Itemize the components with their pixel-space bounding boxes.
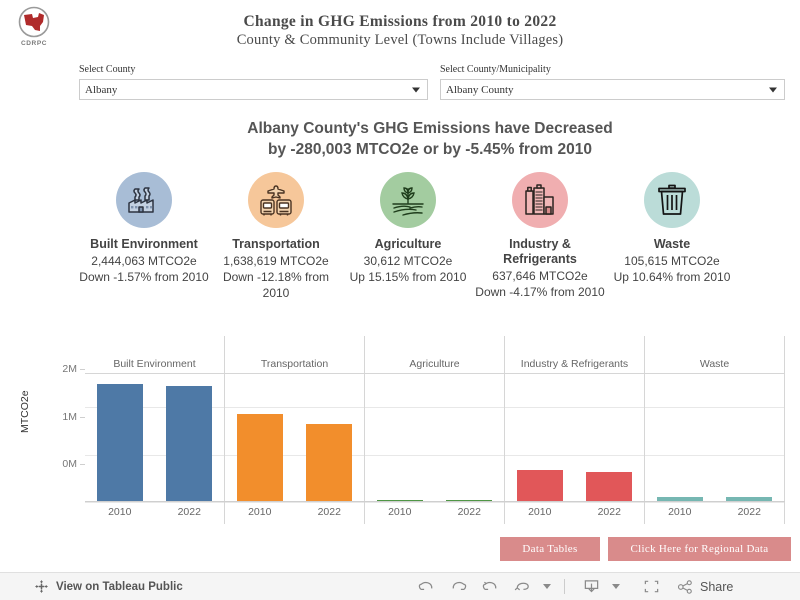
kpi-value: 637,646 MTCO2e (492, 268, 587, 284)
kpi-card-transportation[interactable]: Transportation1,638,619 MTCO2eDown -12.1… (210, 172, 342, 301)
data-tables-button[interactable]: Data Tables (500, 537, 600, 561)
title-line-1: Change in GHG Emissions from 2010 to 202… (120, 12, 680, 31)
kpi-card-agriculture[interactable]: Agriculture30,612 MTCO2eUp 15.15% from 2… (342, 172, 474, 301)
toolbar-controls: Share (410, 574, 733, 600)
panel-header: Industry & Refrigerants (504, 336, 644, 373)
refresh-dropdown-button[interactable] (538, 574, 554, 600)
x-axis-label: 2022 (306, 506, 352, 518)
bar-panel (644, 374, 785, 502)
factory-icon (116, 172, 172, 228)
waste-icon (644, 172, 700, 228)
bar-panel (504, 374, 644, 502)
download-icon (582, 578, 601, 595)
bar[interactable] (586, 472, 632, 502)
kpi-value: 2,444,063 MTCO2e (91, 253, 196, 269)
tableau-toolbar: View on Tableau Public (0, 572, 800, 600)
regional-data-button[interactable]: Click Here for Regional Data (608, 537, 791, 561)
tableau-logo-icon (34, 579, 49, 594)
x-axis-label: 2010 (97, 506, 143, 518)
panel-header: Waste (644, 336, 785, 373)
kpi-card-industry-refrigerants[interactable]: Industry & Refrigerants637,646 MTCO2eDow… (474, 172, 606, 301)
kpi-name: Built Environment (90, 237, 198, 252)
bar[interactable] (517, 470, 563, 502)
chevron-down-icon (412, 87, 420, 92)
transportation-icon (248, 172, 304, 228)
x-axis-label: 2022 (446, 506, 492, 518)
county-filter-select[interactable]: Albany (79, 79, 428, 100)
panel-header-row: Built EnvironmentTransportationAgricultu… (85, 336, 785, 374)
county-filter-label: Select County (79, 64, 428, 76)
municipality-filter: Select County/Municipality Albany County (440, 64, 785, 100)
x-axis-label: 2022 (166, 506, 212, 518)
undo-button[interactable] (410, 574, 442, 600)
county-filter: Select County Albany (79, 64, 428, 100)
cdrpc-logo: CDRPC (10, 6, 58, 52)
redo-button[interactable] (442, 574, 474, 600)
kpi-change: Down -1.57% from 2010 (79, 269, 208, 285)
x-axis-label: 2010 (377, 506, 423, 518)
panel-header: Transportation (224, 336, 364, 373)
y-axis-tick-label: 2M (62, 363, 77, 375)
bar[interactable] (166, 386, 212, 502)
x-axis-panel: 20102022 (224, 502, 364, 524)
headline-line-2: by -280,003 MTCO2e or by -5.45% from 201… (100, 139, 760, 160)
undo-icon (417, 579, 436, 595)
y-axis-tick-label: 1M (62, 411, 77, 423)
municipality-filter-value: Albany County (441, 84, 514, 96)
x-axis-label: 2022 (726, 506, 772, 518)
municipality-filter-label: Select County/Municipality (440, 64, 785, 76)
panel-header: Built Environment (85, 336, 224, 373)
bar-panel (85, 374, 224, 502)
kpi-name: Transportation (232, 237, 320, 252)
kpi-value: 105,615 MTCO2e (624, 253, 719, 269)
refresh-icon (513, 579, 532, 595)
county-filter-value: Albany (80, 84, 117, 96)
emissions-bar-chart: MTCO2e Built EnvironmentTransportationAg… (18, 336, 785, 526)
kpi-name: Industry & Refrigerants (474, 237, 606, 267)
title-line-2: County & Community Level (Towns Include … (120, 31, 680, 50)
y-axis-tick-mark (80, 369, 85, 370)
kpi-value: 1,638,619 MTCO2e (223, 253, 328, 269)
kpi-name: Agriculture (375, 237, 442, 252)
x-axis-panel: 20102022 (504, 502, 644, 524)
y-axis-tick-label: 0M (62, 458, 77, 470)
x-axis-panel: 20102022 (85, 502, 224, 524)
x-axis-panel: 20102022 (644, 502, 785, 524)
download-dropdown-button[interactable] (607, 574, 623, 600)
kpi-row: Built Environment2,444,063 MTCO2eDown -1… (78, 172, 738, 301)
view-on-tableau-public-button[interactable]: View on Tableau Public (34, 579, 183, 594)
x-axis-label: 2010 (237, 506, 283, 518)
x-axis-label: 2010 (657, 506, 703, 518)
kpi-value: 30,612 MTCO2e (364, 253, 453, 269)
bar[interactable] (97, 384, 143, 502)
action-button-row: Data Tables Click Here for Regional Data (500, 537, 791, 561)
kpi-card-waste[interactable]: Waste105,615 MTCO2eUp 10.64% from 2010 (606, 172, 738, 301)
x-axis-label: 2010 (517, 506, 563, 518)
municipality-filter-select[interactable]: Albany County (440, 79, 785, 100)
chevron-down-icon (612, 584, 620, 589)
view-on-tableau-public-label: View on Tableau Public (56, 581, 183, 593)
industry-icon (512, 172, 568, 228)
x-axis-panel: 20102022 (364, 502, 504, 524)
chevron-down-icon (543, 584, 551, 589)
download-button[interactable] (575, 574, 607, 600)
x-axis-labels: 2010202220102022201020222010202220102022 (85, 502, 785, 524)
bar[interactable] (306, 424, 352, 502)
revert-icon (481, 579, 500, 595)
headline-line-1: Albany County's GHG Emissions have Decre… (100, 118, 760, 139)
summary-headline: Albany County's GHG Emissions have Decre… (100, 118, 760, 160)
plot-area (85, 374, 785, 502)
bar[interactable] (237, 414, 283, 502)
bar-panel (224, 374, 364, 502)
bar-panels (85, 374, 785, 502)
x-axis-label: 2022 (586, 506, 632, 518)
fullscreen-icon (642, 578, 661, 595)
refresh-button[interactable] (506, 574, 538, 600)
bar-panel (364, 374, 504, 502)
revert-button[interactable] (474, 574, 506, 600)
kpi-change: Up 15.15% from 2010 (350, 269, 467, 285)
kpi-change: Down -12.18% from 2010 (210, 269, 342, 301)
share-icon (677, 579, 694, 595)
fullscreen-button[interactable] (635, 574, 667, 600)
y-axis-ticks: 0M1M2M (18, 336, 85, 464)
chevron-down-icon (769, 87, 777, 92)
toolbar-separator (564, 579, 565, 594)
kpi-name: Waste (654, 237, 690, 252)
kpi-change: Down -4.17% from 2010 (475, 284, 604, 300)
panel-header: Agriculture (364, 336, 504, 373)
agriculture-icon (380, 172, 436, 228)
page-title: Change in GHG Emissions from 2010 to 202… (120, 12, 680, 50)
kpi-card-built-environment[interactable]: Built Environment2,444,063 MTCO2eDown -1… (78, 172, 210, 301)
share-button[interactable]: Share (677, 579, 733, 595)
kpi-change: Up 10.64% from 2010 (614, 269, 731, 285)
cdrpc-logo-icon (10, 6, 58, 40)
share-label: Share (700, 580, 733, 594)
dashboard-root: CDRPC Change in GHG Emissions from 2010 … (0, 0, 800, 600)
redo-icon (449, 579, 468, 595)
cdrpc-logo-text: CDRPC (10, 40, 58, 47)
